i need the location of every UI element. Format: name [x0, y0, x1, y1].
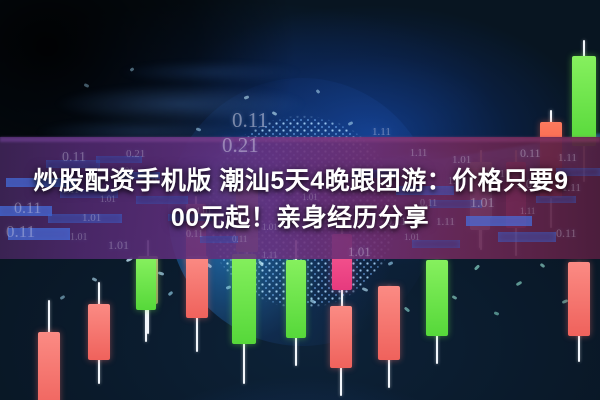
price-number-label: 1.01 — [348, 244, 371, 260]
price-number-label: 1.01 — [108, 238, 129, 253]
promo-banner-image: 0.110.211.110.111.011.111.010.111.010.11… — [0, 0, 600, 400]
price-number-label: 1.11 — [372, 126, 391, 138]
data-block-bar — [412, 240, 460, 248]
page-title: 炒股配资手机版 潮汕5天4晚跟团游：价格只要9 00元起！亲身经历分享 — [0, 163, 600, 237]
price-number-label: 0.11 — [520, 146, 541, 161]
price-number-label: 0.21 — [222, 133, 259, 158]
data-block-bar — [200, 236, 238, 243]
price-number-label: 0.11 — [232, 108, 268, 133]
headline-line-1: 炒股配资手机版 潮汕5天4晚跟团游：价格只要9 — [0, 163, 600, 200]
price-number-label: 1.11 — [410, 148, 427, 159]
headline-line-2: 00元起！亲身经历分享 — [0, 200, 600, 237]
data-block-bar — [96, 156, 142, 163]
price-number-label: 1.11 — [262, 250, 277, 260]
